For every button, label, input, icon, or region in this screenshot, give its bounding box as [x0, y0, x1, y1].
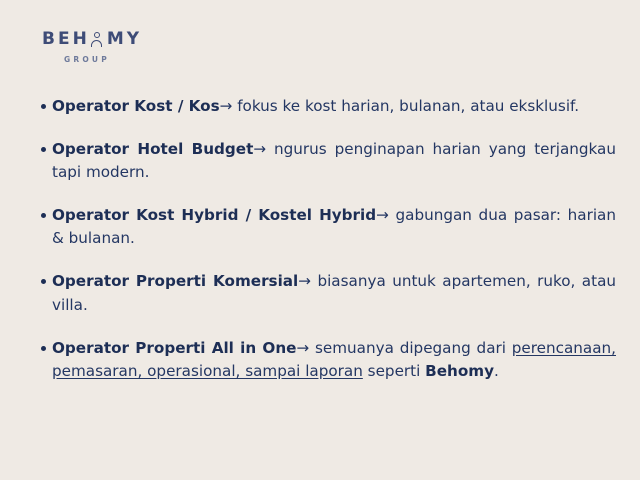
logo-wordmark: BEH MY [42, 30, 192, 49]
list-item-rest: semuanya dipegang dari [309, 339, 512, 357]
list-item-lead: Operator Kost Hybrid / Kostel Hybrid [52, 206, 376, 224]
list-item-text: Operator Properti All in One→ semuanya d… [52, 337, 616, 383]
list-item-text: Operator Hotel Budget→ ngurus penginapan… [52, 138, 616, 184]
slide-canvas: BEH MY GROUP Operator Kost / Kos→ fokus … [0, 0, 640, 480]
bullet-list: Operator Kost / Kos→ fokus ke kost haria… [34, 95, 616, 383]
list-item-text: Operator Kost / Kos→ fokus ke kost haria… [52, 95, 616, 118]
list-item: Operator Properti Komersial→ biasanya un… [34, 270, 616, 316]
list-item: Operator Kost Hybrid / Kostel Hybrid→ ga… [34, 204, 616, 250]
arrow-icon: → [298, 272, 311, 290]
brand-mention: Behomy [425, 362, 494, 380]
list-item-lead: Operator Properti Komersial [52, 272, 298, 290]
bullet-marker-icon [34, 138, 52, 152]
logo-subtitle: GROUP [64, 55, 192, 64]
list-item-lead: Operator Hotel Budget [52, 140, 253, 158]
logo-word-left: BEH [42, 31, 90, 48]
list-item-rest: fokus ke kost harian, bulanan, atau eksk… [232, 97, 579, 115]
list-item: Operator Kost / Kos→ fokus ke kost haria… [34, 95, 616, 118]
person-icon-head [94, 32, 100, 38]
bullet-marker-icon [34, 204, 52, 218]
person-icon-body [91, 40, 102, 47]
bullet-marker-icon [34, 337, 52, 351]
list-item-lead: Operator Properti All in One [52, 339, 296, 357]
list-item-rest-middle: seperti [363, 362, 425, 380]
brand-logo: BEH MY GROUP [42, 30, 192, 64]
list-item: Operator Properti All in One→ semuanya d… [34, 337, 616, 383]
arrow-icon: → [296, 339, 309, 357]
arrow-icon: → [220, 97, 233, 115]
list-item-lead: Operator Kost / Kos [52, 97, 220, 115]
list-item-rest-after: . [494, 362, 499, 380]
list-item-text: Operator Kost Hybrid / Kostel Hybrid→ ga… [52, 204, 616, 250]
list-item-text: Operator Properti Komersial→ biasanya un… [52, 270, 616, 316]
logo-word-right: MY [107, 31, 142, 48]
arrow-icon: → [376, 206, 389, 224]
bullet-marker-icon [34, 270, 52, 284]
person-icon [91, 32, 104, 47]
arrow-icon: → [253, 140, 266, 158]
list-item: Operator Hotel Budget→ ngurus penginapan… [34, 138, 616, 184]
bullet-marker-icon [34, 95, 52, 109]
